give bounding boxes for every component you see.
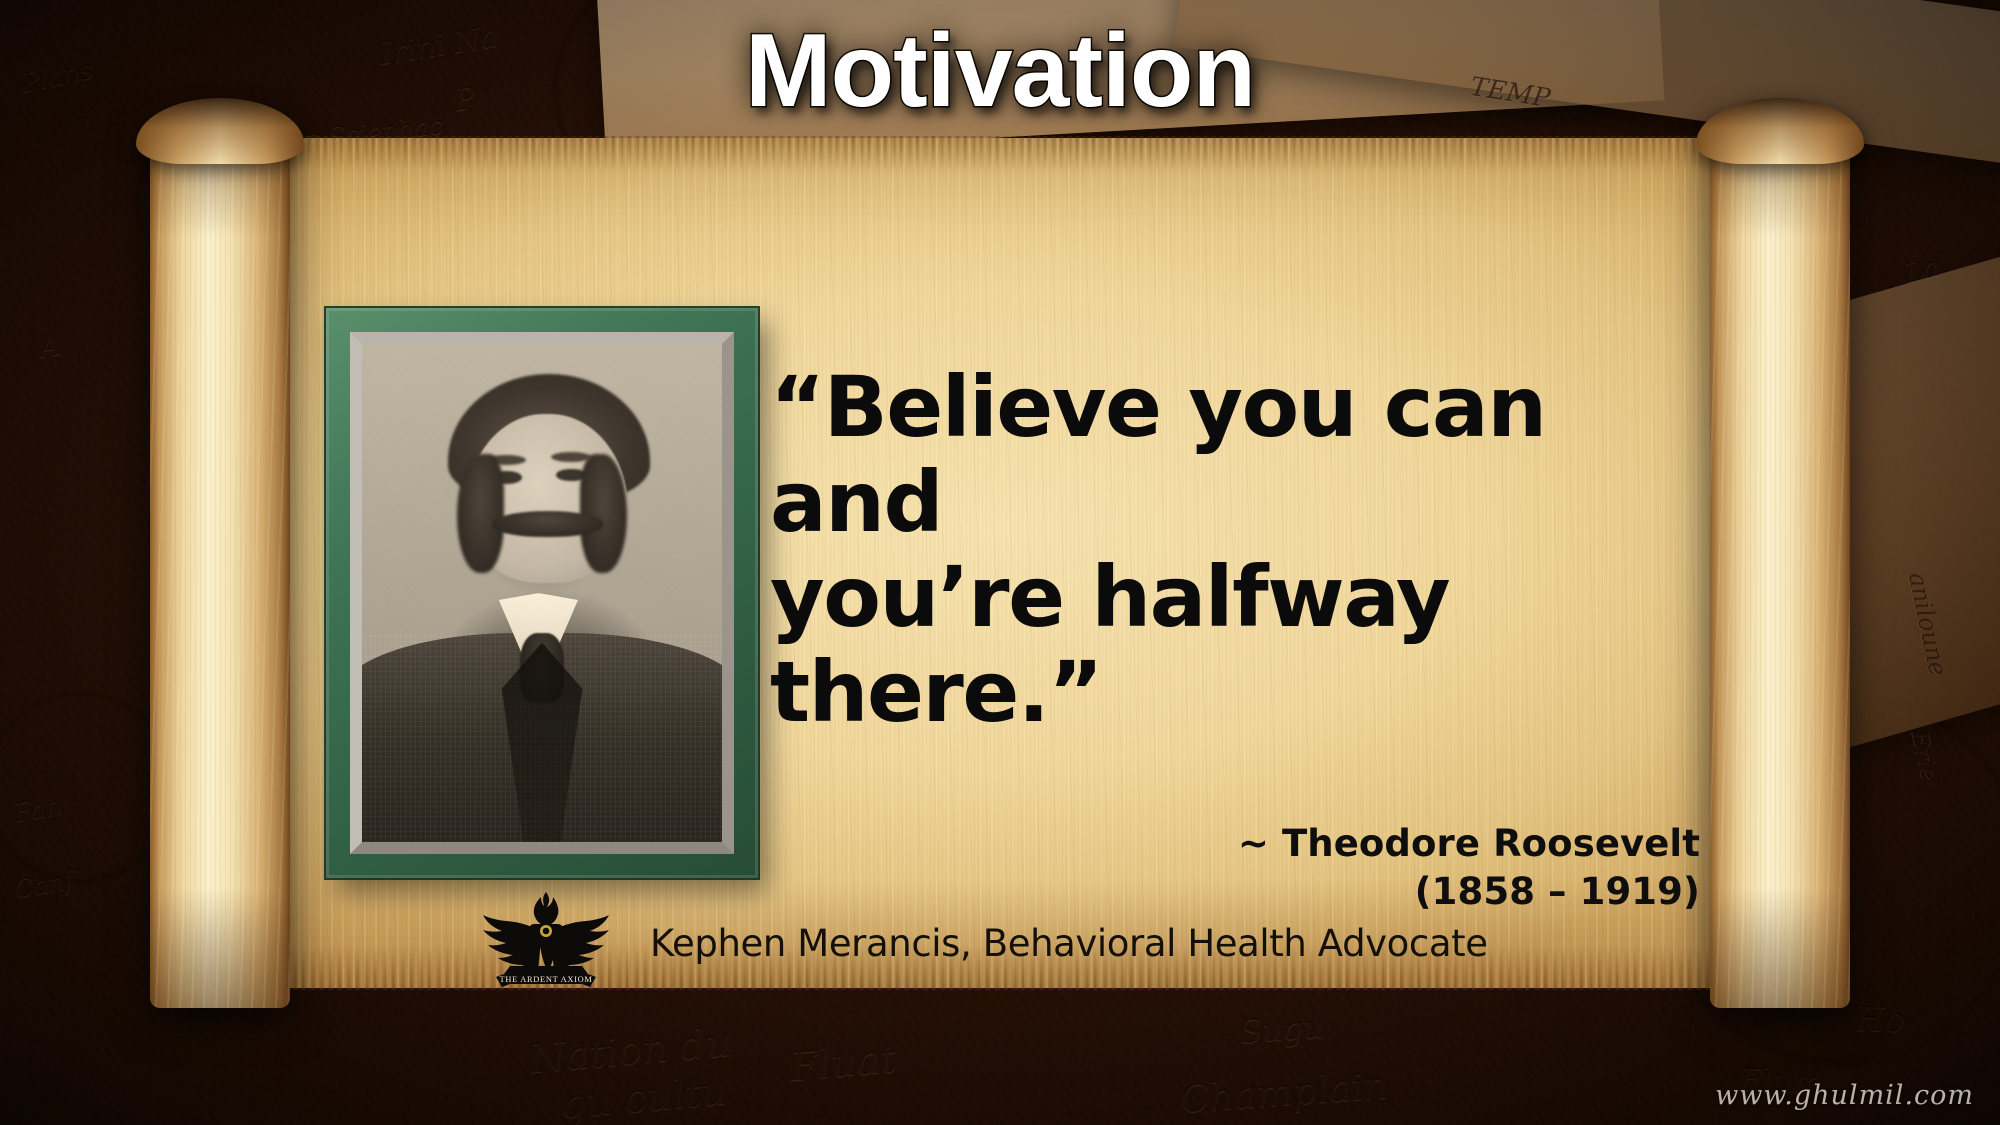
portrait-mat [350, 332, 734, 854]
portrait-film-grain [362, 344, 722, 842]
footer-credit: THE ARDENT AXIOM Kephen Merancis, Behavi… [480, 888, 1488, 998]
map-label: Fluat [788, 1035, 898, 1090]
quote-block: “Believe you can and you’re halfway ther… [770, 360, 1700, 916]
map-label: Ho [1854, 999, 1905, 1041]
attribution-author: ~ Theodore Roosevelt [770, 820, 1700, 868]
portrait-photo [362, 344, 722, 842]
scroll-roller-left [150, 118, 290, 1008]
slide-canvas: Irini NaPPlansTacamp ScienhacTEMPLaAFanC… [0, 0, 2000, 1125]
quote-line-1: “Believe you can and [770, 360, 1700, 550]
site-watermark: www.ghulmil.com [1715, 1080, 1974, 1111]
the-ardent-axiom-logo: THE ARDENT AXIOM [480, 888, 612, 998]
quote-line-2: you’re halfway there.” [770, 550, 1700, 740]
map-label: Sugu [1239, 1007, 1325, 1051]
scroll-roller-right [1710, 118, 1850, 1008]
logo-banner-text: THE ARDENT AXIOM [500, 975, 593, 984]
portrait-frame [326, 308, 758, 878]
parchment-torn-edge-top [210, 136, 1790, 170]
page-title: Motivation [0, 18, 2000, 124]
credit-line: Kephen Merancis, Behavioral Health Advoc… [650, 922, 1488, 965]
